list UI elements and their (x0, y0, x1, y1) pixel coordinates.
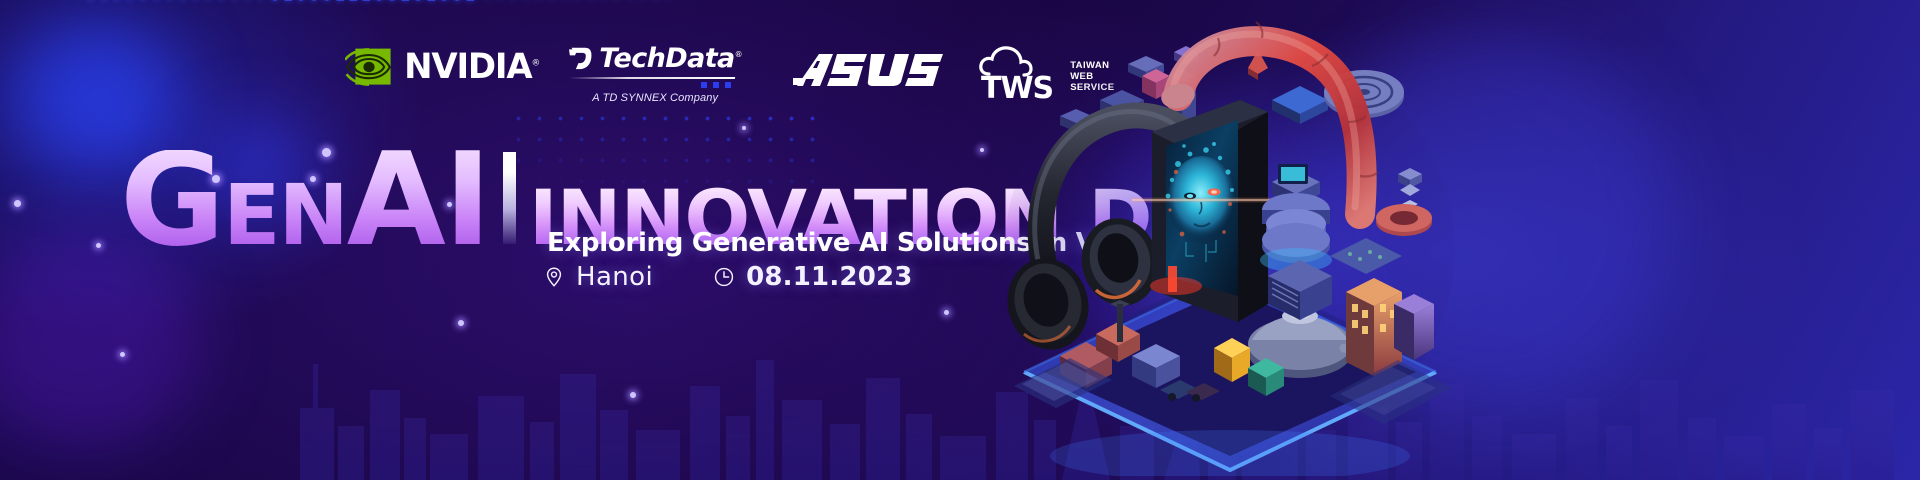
clock-icon (713, 266, 735, 288)
asus-logo[interactable]: ® (793, 50, 943, 94)
promo-banner: 1 0 0 1 0 0 0 1 0 0 1 0 10 0 0 1 01 1 0 … (0, 0, 1920, 480)
title-divider (503, 152, 516, 244)
meta-location-label: Hanoi (576, 262, 653, 292)
genai-title: GENAI (120, 150, 489, 252)
techdata-wordmark: TechData® (599, 45, 742, 72)
sparkle-8 (630, 392, 636, 398)
sparkle-11 (120, 352, 125, 357)
techdata-logo[interactable]: TechData® A TD SYNNEX Company (569, 44, 741, 104)
genai-g: G (120, 126, 223, 275)
sparkle-9 (944, 310, 949, 315)
nvidia-wordmark: NVIDIA® (404, 50, 539, 85)
genai-ai: AI (347, 126, 490, 275)
techdata-monogram-icon (569, 44, 593, 72)
meta-location: Hanoi (543, 262, 653, 292)
techdata-rule (569, 77, 735, 79)
map-pin-icon (543, 266, 565, 288)
meta-date-label: 08.11.2023 (746, 262, 912, 292)
sparkle-3 (96, 243, 101, 248)
svg-text:®: ® (935, 55, 941, 64)
city-skyline-silhouette (0, 330, 1920, 480)
nvidia-logo[interactable]: NVIDIA® (345, 47, 541, 87)
genai-en: EN (223, 166, 347, 264)
binary-column-5: 1 1 0 1 0 0 1 0 0 0 1 0 1 0 0 1 1 0 0 1 … (350, 0, 675, 5)
binary-column-2: 0 0 0 1 0 (84, 0, 149, 5)
techdata-tagline: A TD SYNNEX Company (569, 92, 741, 104)
meta-date: 08.11.2023 (713, 262, 912, 292)
sparkle-2 (14, 200, 21, 207)
nvidia-eye-icon (345, 47, 393, 87)
asus-wordmark: ® (793, 50, 943, 94)
event-meta: Hanoi 08.11.2023 (543, 262, 913, 292)
isometric-ai-city-illustration (1000, 4, 1460, 476)
techdata-squares-decor (569, 82, 741, 88)
sparkle-7 (458, 320, 464, 326)
